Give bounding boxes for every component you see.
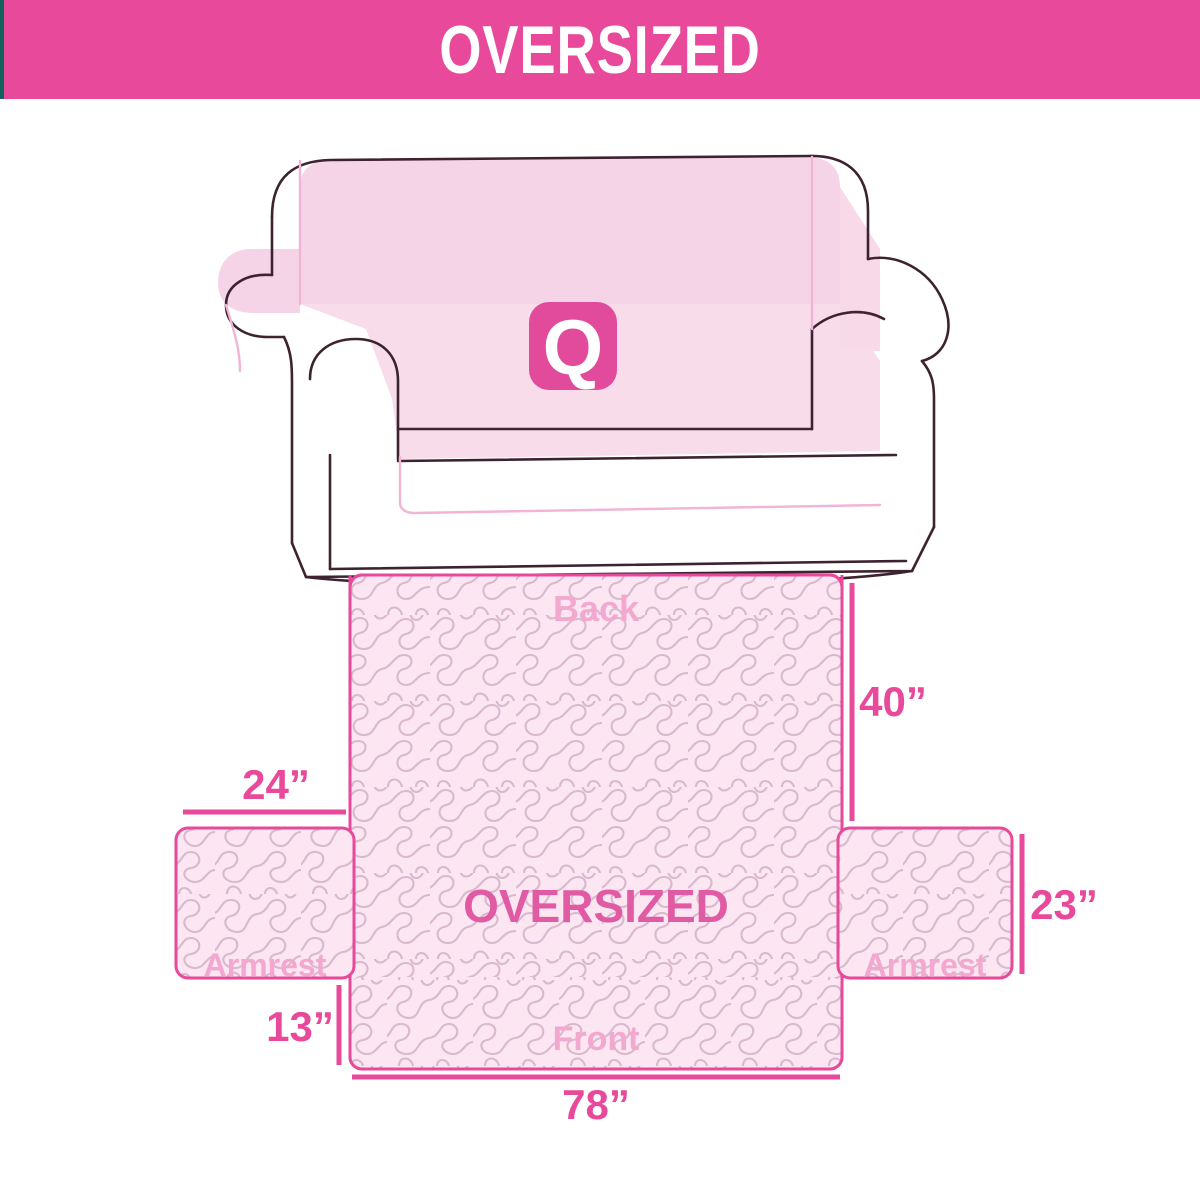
- banner-edge-accent: [0, 0, 4, 99]
- sofa-base-outline: [292, 527, 934, 577]
- dimension-armrest-right-height-label: 23”: [1030, 881, 1098, 928]
- sofa-left-arm-outer: [284, 337, 292, 543]
- sofa-skirt-line: [330, 561, 906, 569]
- panel-label-armrest-right: Armrest: [864, 947, 987, 983]
- sofa-right-arm-outer: [922, 361, 934, 527]
- sofa-logo-badge: Q: [529, 302, 617, 391]
- sofa-seam-arm-left: [226, 305, 240, 371]
- sofa-illustration: Q: [218, 156, 948, 586]
- flat-pattern-diagram: Back Armrest Armrest Front OVERSIZED 40”…: [176, 575, 1098, 1128]
- panel-label-armrest-left: Armrest: [204, 947, 327, 983]
- dimension-armrest-left-width-label: 24”: [242, 761, 310, 808]
- dimension-front-drop-label: 13”: [266, 1003, 334, 1050]
- logo-letter: Q: [543, 303, 604, 391]
- sofa-left-arm-fill: [218, 249, 300, 313]
- artwork-stage: Q Back Armrest Armrest Front OVERSIZED: [0, 99, 1200, 1200]
- diagram-center-label: OVERSIZED: [463, 880, 729, 932]
- dimension-back-height-label: 40”: [859, 678, 927, 725]
- panel-label-front: Front: [553, 1020, 640, 1058]
- dimension-seat-width-label: 78”: [562, 1081, 630, 1128]
- header-banner: OVERSIZED: [0, 0, 1200, 99]
- panel-label-back: Back: [553, 588, 640, 629]
- sofa-backrest-fill: [300, 157, 840, 304]
- sofa-right-arm-fill: [840, 187, 880, 351]
- banner-title: OVERSIZED: [439, 16, 761, 84]
- sofa-seam-bottom: [400, 457, 880, 513]
- sofa-right-arm-roll: [868, 258, 948, 361]
